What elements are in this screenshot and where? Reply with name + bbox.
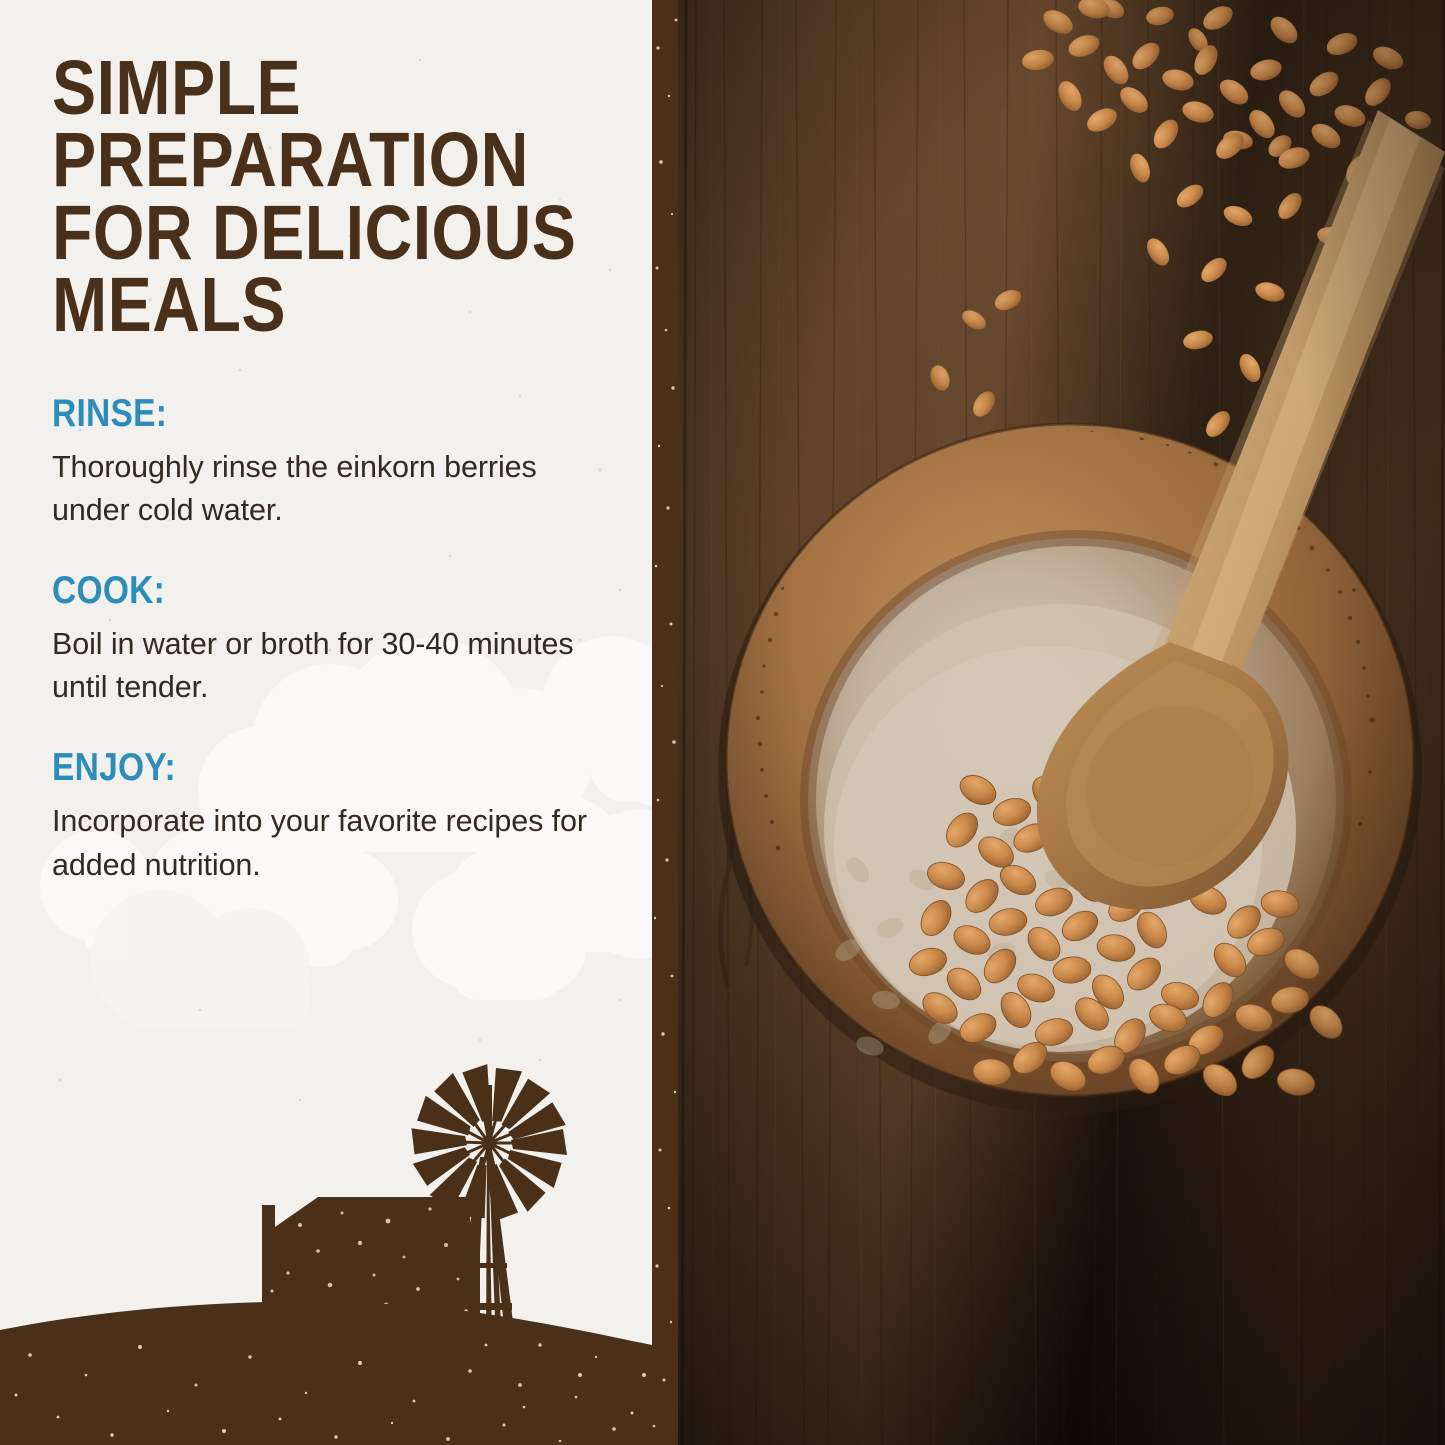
poster-canvas: SIMPLEPREPARATIONFOR DELICIOUSMEALS RINS… (0, 0, 1445, 1445)
windmill-icon (411, 1064, 567, 1345)
step-rinse: RINSE: Thoroughly rinse the einkorn berr… (52, 394, 612, 533)
photo-illustration (678, 0, 1445, 1445)
ground-speckle (15, 1343, 647, 1442)
step-cook: COOK: Boil in water or broth for 30-40 m… (52, 571, 612, 710)
hill-ground-shape (0, 1302, 652, 1445)
farm-silhouette (0, 1045, 652, 1445)
step-cook-heading: COOK: (52, 571, 534, 610)
panel-content: SIMPLEPREPARATIONFOR DELICIOUSMEALS RINS… (0, 0, 652, 887)
step-cook-body: Boil in water or broth for 30-40 minutes… (52, 623, 597, 710)
page-title: SIMPLEPREPARATIONFOR DELICIOUSMEALS (52, 52, 602, 342)
barn-icon (262, 1197, 480, 1345)
divider-strip (652, 0, 678, 1445)
step-rinse-body: Thoroughly rinse the einkorn berries und… (52, 446, 597, 533)
cloud-shape (90, 890, 310, 1030)
step-enjoy-heading: ENJOY: (52, 748, 534, 787)
divider-speckle (652, 0, 678, 1445)
cloud-shape (412, 872, 586, 1000)
step-enjoy-body: Incorporate into your favorite recipes f… (52, 800, 597, 887)
barn-speckle (271, 1207, 468, 1340)
info-panel: SIMPLEPREPARATIONFOR DELICIOUSMEALS RINS… (0, 0, 652, 1445)
food-photo (678, 0, 1445, 1445)
step-enjoy: ENJOY: Incorporate into your favorite re… (52, 748, 612, 887)
step-rinse-heading: RINSE: (52, 394, 534, 433)
preparation-steps-list: RINSE: Thoroughly rinse the einkorn berr… (52, 394, 612, 888)
